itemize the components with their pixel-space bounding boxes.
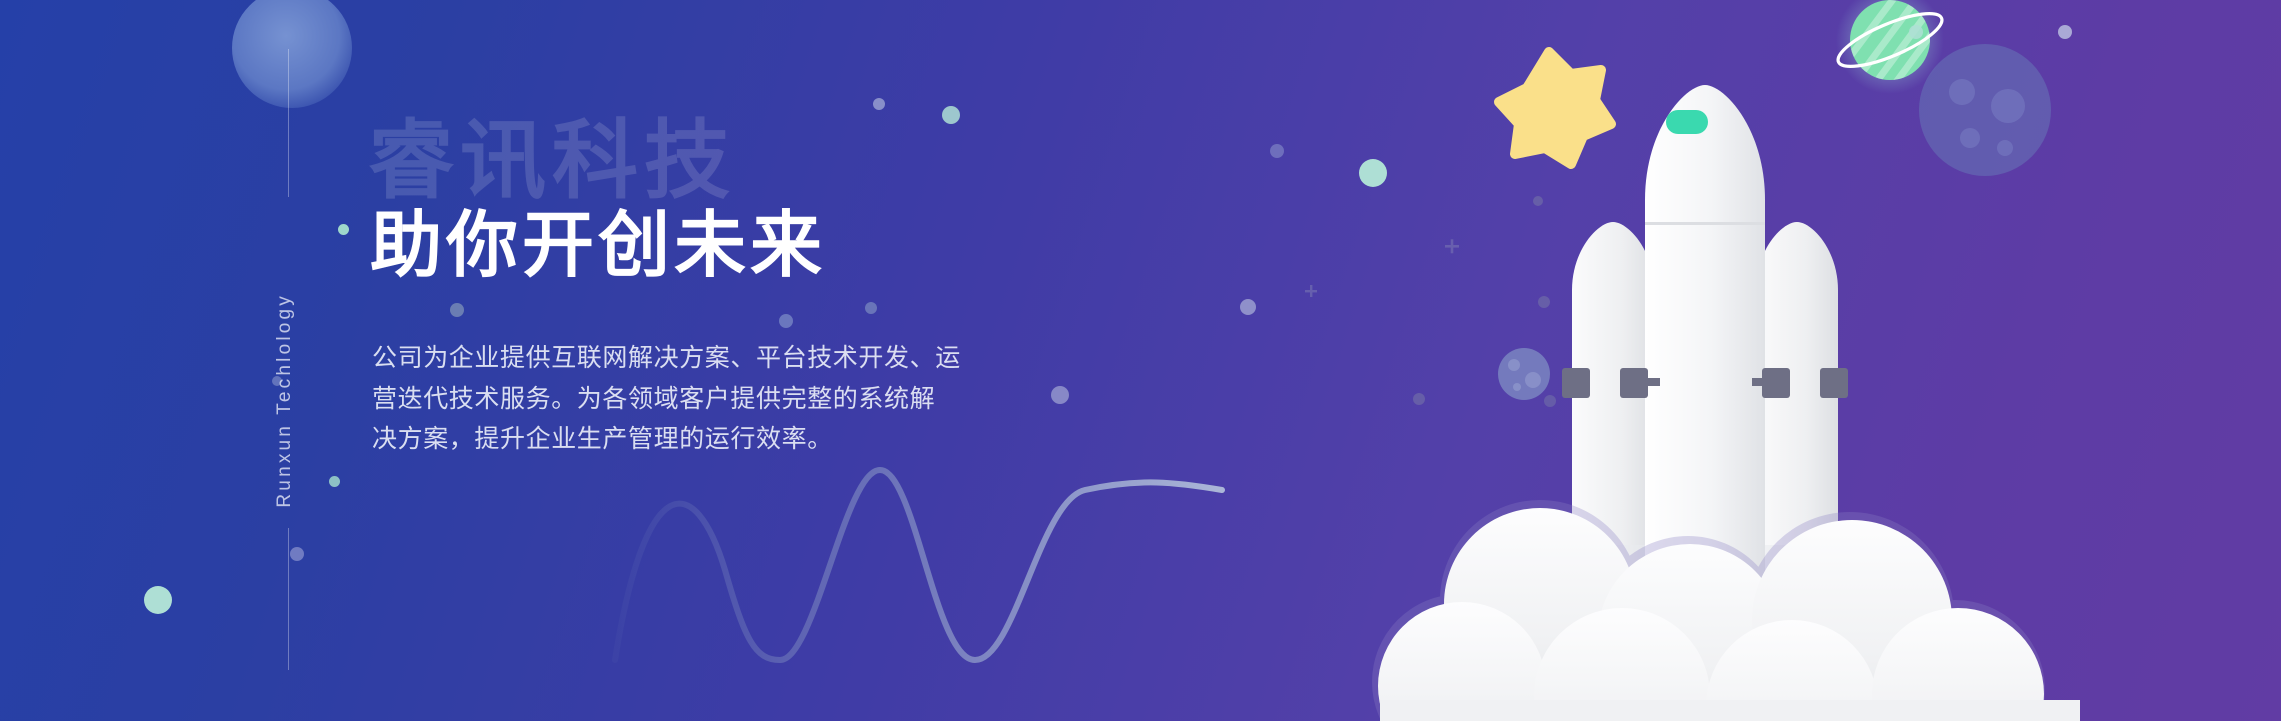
rocket-group (1372, 85, 2080, 721)
sine-wave-decor (615, 470, 1222, 660)
brand-vertical-label: Runxun Techlology (274, 293, 296, 508)
description-line-3: 决方案，提升企业生产管理的运行效率。 (372, 419, 924, 460)
yellow-star-icon (1499, 52, 1611, 164)
rocket-window (1666, 110, 1708, 134)
moon-planet-group (1828, 0, 2051, 176)
small-moon (1498, 348, 1550, 400)
space-illustration (0, 0, 2281, 721)
description-line-1: 公司为企业提供互联网解决方案、平台技术开发、运 (372, 338, 924, 379)
watermark-company-name: 睿讯科技 (368, 118, 736, 204)
brand-vertical-text: Runxun Techlology (262, 148, 308, 508)
description-paragraph: 公司为企业提供互联网解决方案、平台技术开发、运 营迭代技术服务。为各领域客户提供… (372, 338, 924, 460)
page-title: 助你开创未来 (370, 208, 826, 286)
description-line-2: 营迭代技术服务。为各领域客户提供完整的系统解 (372, 379, 924, 420)
main-rocket (1645, 85, 1765, 600)
hero-banner: Runxun Techlology 睿讯科技 助你开创未来 公司为企业提供互联网… (0, 0, 2281, 721)
space-dots (779, 25, 2072, 574)
